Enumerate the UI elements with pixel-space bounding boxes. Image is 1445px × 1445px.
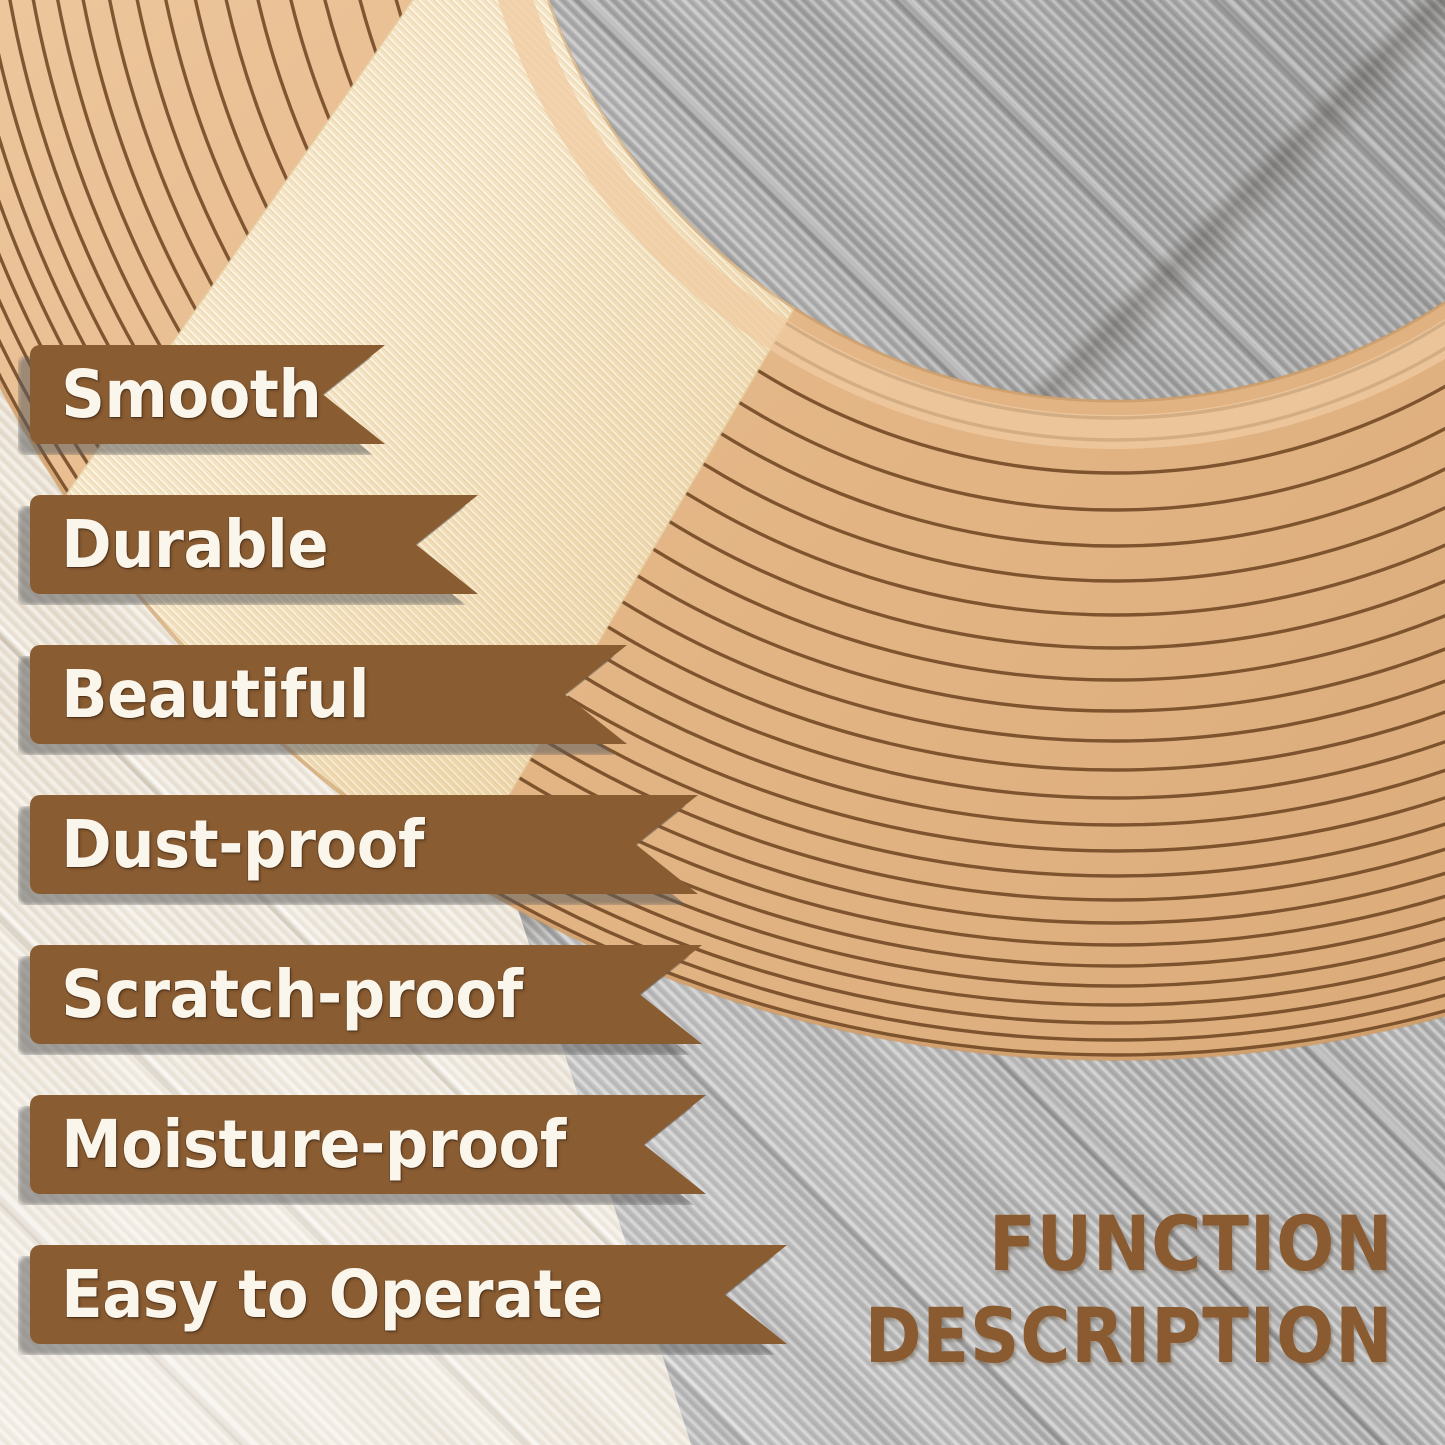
feature-banner-label: Durable [30, 512, 328, 578]
feature-banner-row: Dust-proof [30, 795, 790, 945]
feature-banner-label: Beautiful [30, 662, 369, 728]
feature-banner-label: Scratch-proof [30, 962, 523, 1028]
feature-banner-moisture-proof[interactable]: Moisture-proof [30, 1095, 706, 1194]
feature-banner-durable[interactable]: Durable [30, 495, 478, 594]
function-description-title: FUNCTION DESCRIPTION [864, 1198, 1393, 1383]
feature-banner-easy-to-operate[interactable]: Easy to Operate [30, 1245, 787, 1344]
feature-banner-row: Beautiful [30, 645, 790, 795]
feature-banner-row: Durable [30, 495, 790, 645]
feature-banner-list: Smooth Durable Beautiful Dust-proof Scra [30, 345, 790, 1395]
feature-banner-row: Easy to Operate [30, 1245, 790, 1395]
feature-banner-dust-proof[interactable]: Dust-proof [30, 795, 698, 894]
feature-banner-label: Dust-proof [30, 812, 424, 878]
title-line-1: FUNCTION [864, 1198, 1393, 1291]
title-line-2: DESCRIPTION [864, 1290, 1393, 1383]
feature-banner-scratch-proof[interactable]: Scratch-proof [30, 945, 702, 1044]
feature-banner-row: Scratch-proof [30, 945, 790, 1095]
product-infographic: Smooth Durable Beautiful Dust-proof Scra [0, 0, 1445, 1445]
feature-banner-label: Smooth [30, 362, 321, 428]
feature-banner-row: Smooth [30, 345, 790, 495]
feature-banner-beautiful[interactable]: Beautiful [30, 645, 627, 744]
feature-banner-smooth[interactable]: Smooth [30, 345, 385, 444]
feature-banner-label: Easy to Operate [30, 1262, 603, 1328]
feature-banner-label: Moisture-proof [30, 1112, 566, 1178]
feature-banner-row: Moisture-proof [30, 1095, 790, 1245]
